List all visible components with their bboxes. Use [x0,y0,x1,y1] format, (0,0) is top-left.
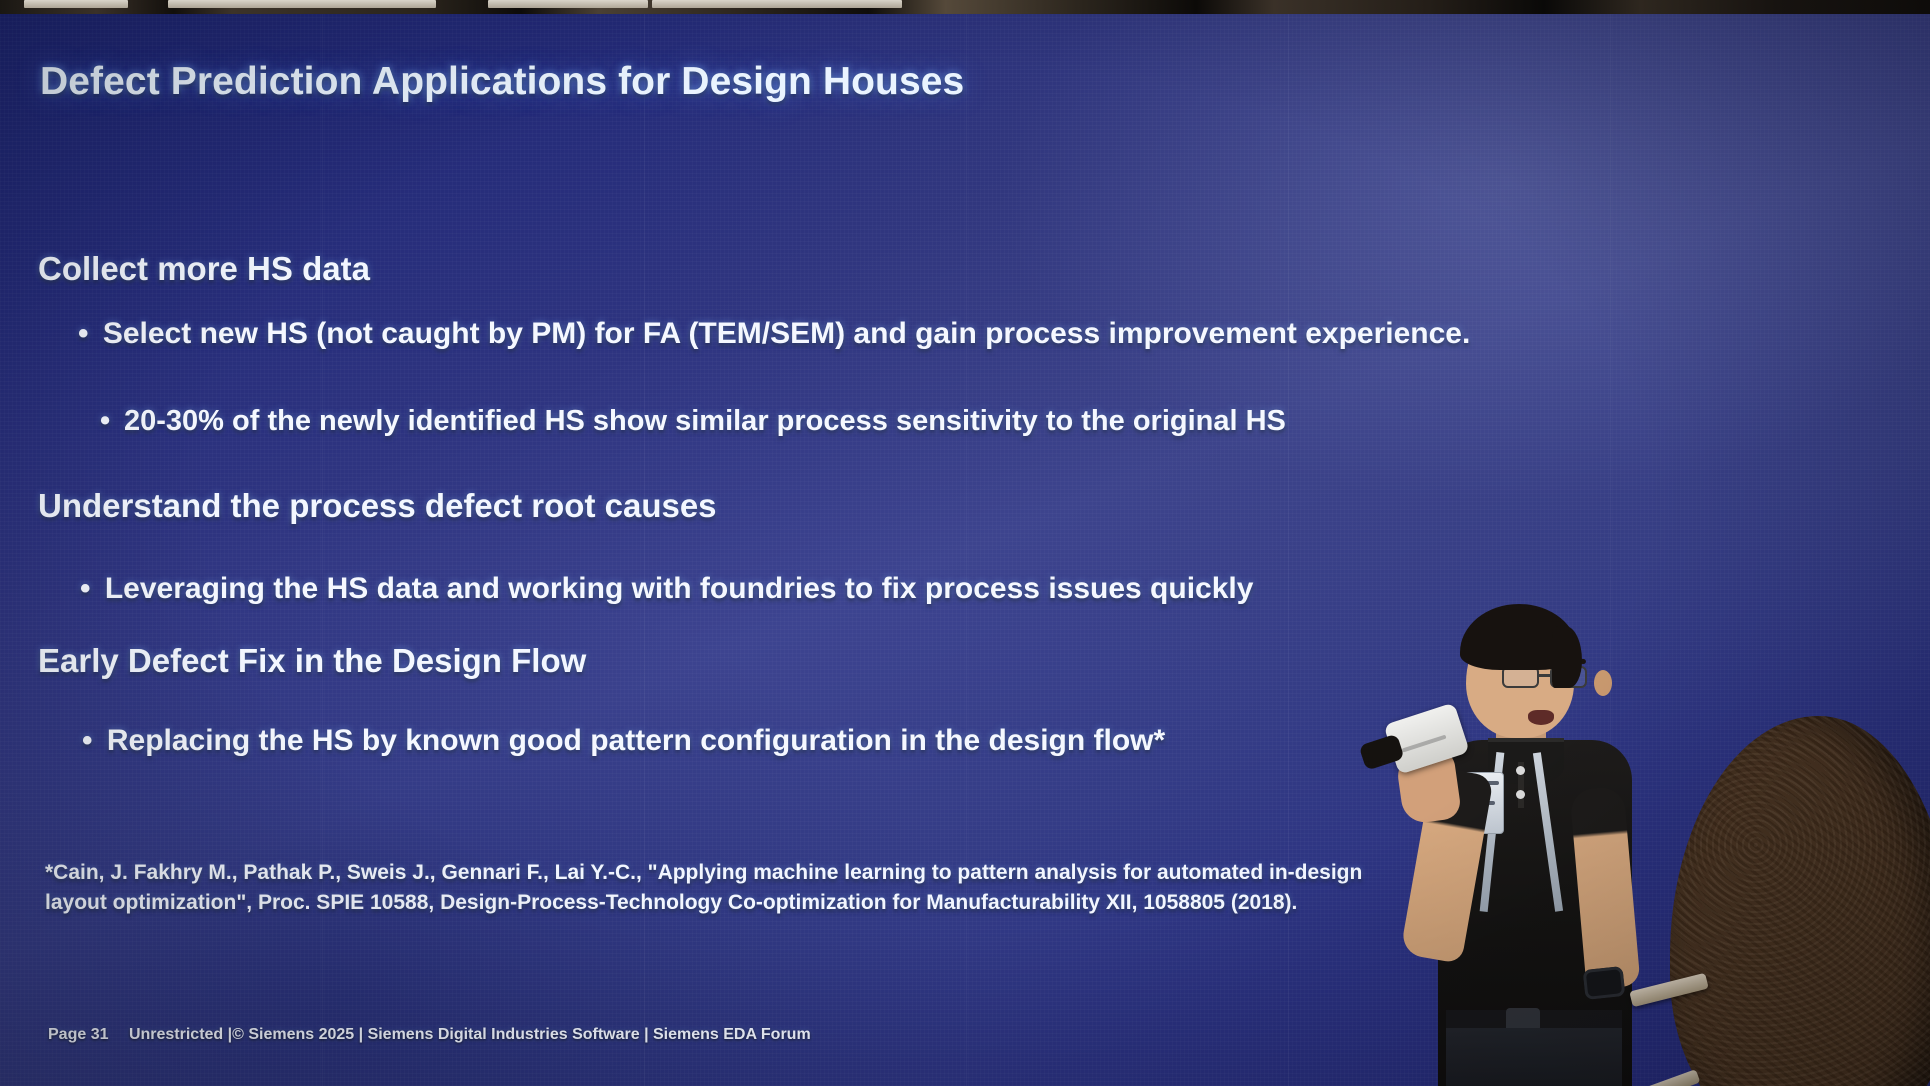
presenter-wristwatch [1583,966,1626,1000]
projected-slide: Defect Prediction Applications for Desig… [0,12,1930,1086]
bullet-text: Replacing the HS by known good pattern c… [107,724,1165,757]
page-number: Page 31 [48,1026,108,1043]
presentation-photo: Defect Prediction Applications for Desig… [0,0,1930,1086]
slide-footer: Page 31 Unrestricted |© Siemens 2025 | S… [48,1026,811,1044]
bullet-marker-icon: • [80,572,97,606]
bullet-marker-icon: • [100,405,116,438]
presenter-mouth [1528,710,1554,725]
bullet-replacing-hs: • Replacing the HS by known good pattern… [82,724,1165,758]
section-heading-collect-more-hs-data: Collect more HS data [38,250,370,288]
audience-member-head [1664,666,1930,1086]
section-heading-understand-root-causes: Understand the process defect root cause… [38,487,717,525]
section-heading-early-defect-fix: Early Defect Fix in the Design Flow [38,642,586,680]
ceiling-light-fixtures [0,0,1930,9]
bullet-text: Leveraging the HS data and working with … [105,572,1254,605]
audience-hair [1670,716,1930,1086]
slide-title: Defect Prediction Applications for Desig… [40,60,964,104]
bullet-text: Select new HS (not caught by PM) for FA … [103,317,1470,350]
presenter-person [1432,612,1632,1086]
bullet-marker-icon: • [82,724,99,758]
bullet-marker-icon: • [78,317,95,351]
bullet-select-new-hs: • Select new HS (not caught by PM) for F… [78,317,1470,351]
bullet-text: 20-30% of the newly identified HS show s… [124,405,1286,437]
presenter-trousers [1446,1028,1622,1086]
footer-copyright: Unrestricted |© Siemens 2025 | Siemens D… [129,1026,811,1043]
bullet-20-30-percent: • 20-30% of the newly identified HS show… [100,405,1286,438]
audience-hair-texture [1670,716,1930,1086]
bullet-leveraging-hs-data: • Leveraging the HS data and working wit… [80,572,1253,606]
slide-content: Defect Prediction Applications for Desig… [0,12,1930,1086]
presenter-hair-side [1552,626,1582,688]
